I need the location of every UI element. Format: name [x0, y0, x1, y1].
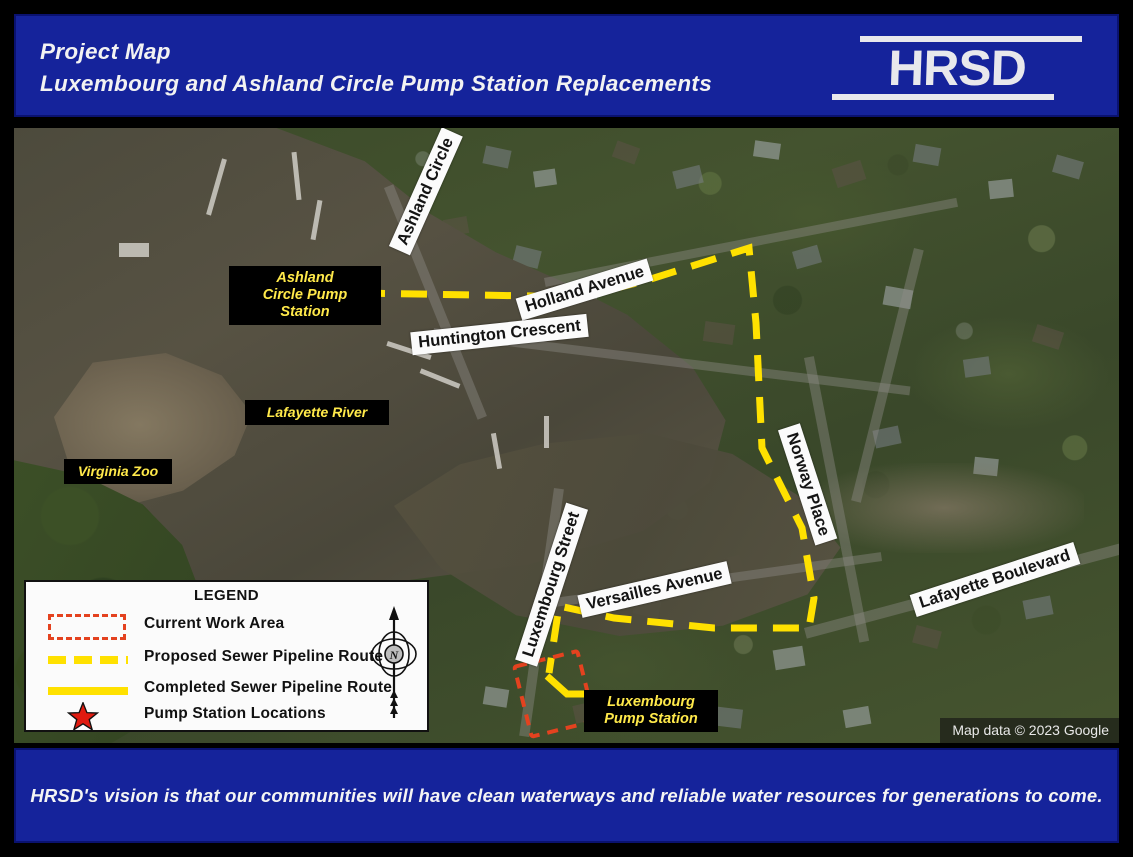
legend-label-current-work-area: Current Work Area: [144, 615, 284, 633]
place-label-luxembourg-pump-station: Luxembourg Pump Station: [584, 690, 718, 732]
place-label-lafayette-river: Lafayette River: [245, 400, 389, 425]
hrsd-logo: HRSD: [832, 36, 1082, 100]
legend-label-pump-stations: Pump Station Locations: [144, 705, 326, 723]
header-titles: Project Map Luxembourg and Ashland Circl…: [40, 36, 712, 100]
vision-statement: HRSD's vision is that our communities wi…: [30, 785, 1102, 807]
legend-title: LEGEND: [26, 587, 427, 604]
map-legend: LEGEND Current Work Area Proposed Sewer …: [24, 580, 429, 732]
page-subtitle: Luxembourg and Ashland Circle Pump Stati…: [40, 68, 712, 100]
header-banner: Project Map Luxembourg and Ashland Circl…: [14, 14, 1119, 117]
current-work-area-icon: [44, 612, 132, 642]
logo-wordmark: HRSD: [831, 43, 1083, 93]
satellite-map[interactable]: Ashland Circle Holland Avenue Huntington…: [14, 128, 1119, 743]
place-label-ashland-circle-pump-station: Ashland Circle Pump Station: [229, 266, 381, 325]
pump-station-star-icon: [44, 702, 132, 732]
legend-label-completed-route: Completed Sewer Pipeline Route: [144, 679, 392, 697]
map-attribution: Map data © 2023 Google: [940, 718, 1119, 743]
page-title: Project Map: [40, 36, 712, 68]
footer-banner: HRSD's vision is that our communities wi…: [14, 748, 1119, 843]
project-map-page: Project Map Luxembourg and Ashland Circl…: [0, 0, 1133, 857]
proposed-route-icon: [44, 645, 132, 675]
legend-label-proposed-route: Proposed Sewer Pipeline Route: [144, 648, 383, 666]
place-label-virginia-zoo: Virginia Zoo: [64, 459, 172, 484]
north-arrow-icon: N: [371, 606, 417, 726]
north-letter: N: [389, 648, 400, 662]
